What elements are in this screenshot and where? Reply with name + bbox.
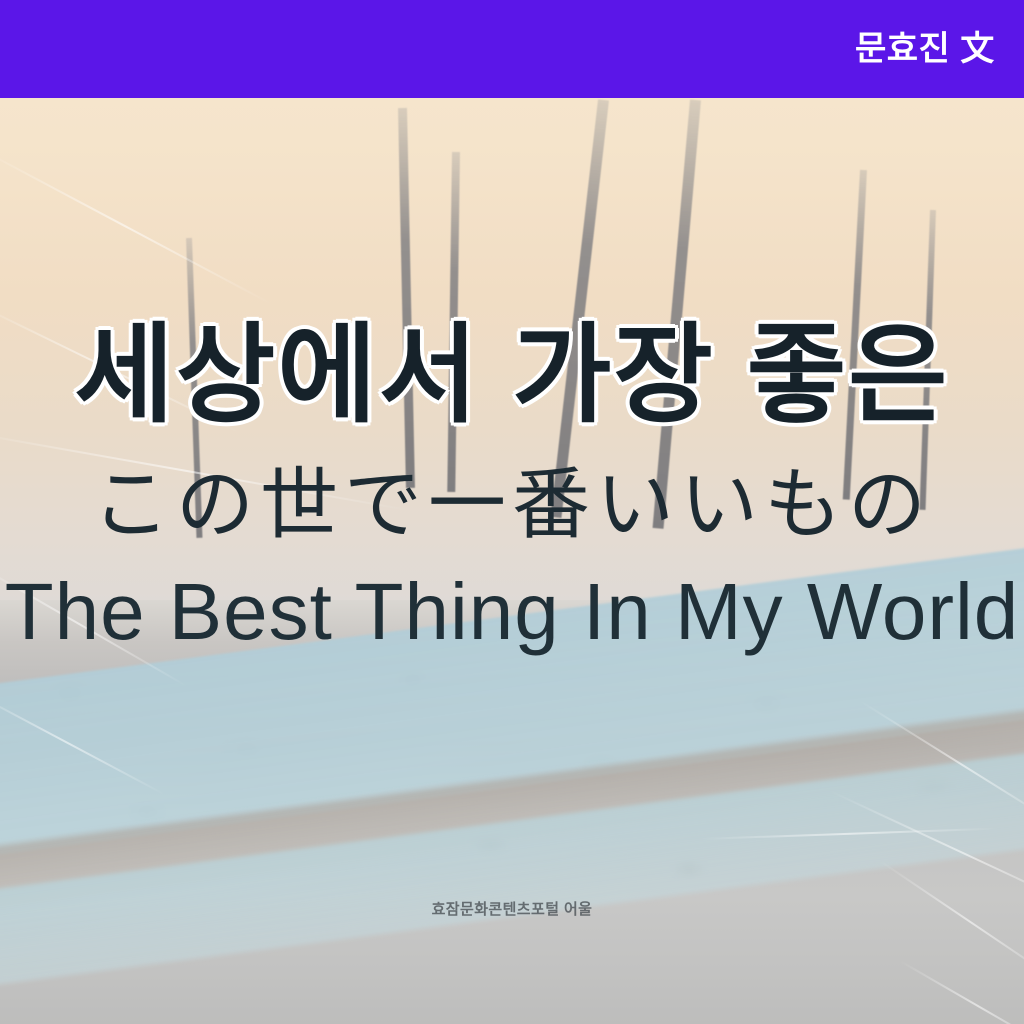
title-korean: 세상에서 가장 좋은 <box>0 310 1024 440</box>
poster-canvas: 문효진 文 세상에서 가장 좋은 この世で一番いいもの The Best Thi… <box>0 0 1024 1024</box>
portal-credit-text: 효잠문화콘텐츠포털 어울 <box>0 898 1024 919</box>
title-japanese: この世で一番いいもの <box>0 448 1024 560</box>
banner-title-text: 문효진 文 <box>855 26 995 72</box>
title-english: The Best Thing In My World <box>0 562 1024 662</box>
title-stack: 세상에서 가장 좋은 この世で一番いいもの The Best Thing In … <box>0 310 1024 662</box>
top-purple-banner: 문효진 文 <box>0 0 1024 98</box>
